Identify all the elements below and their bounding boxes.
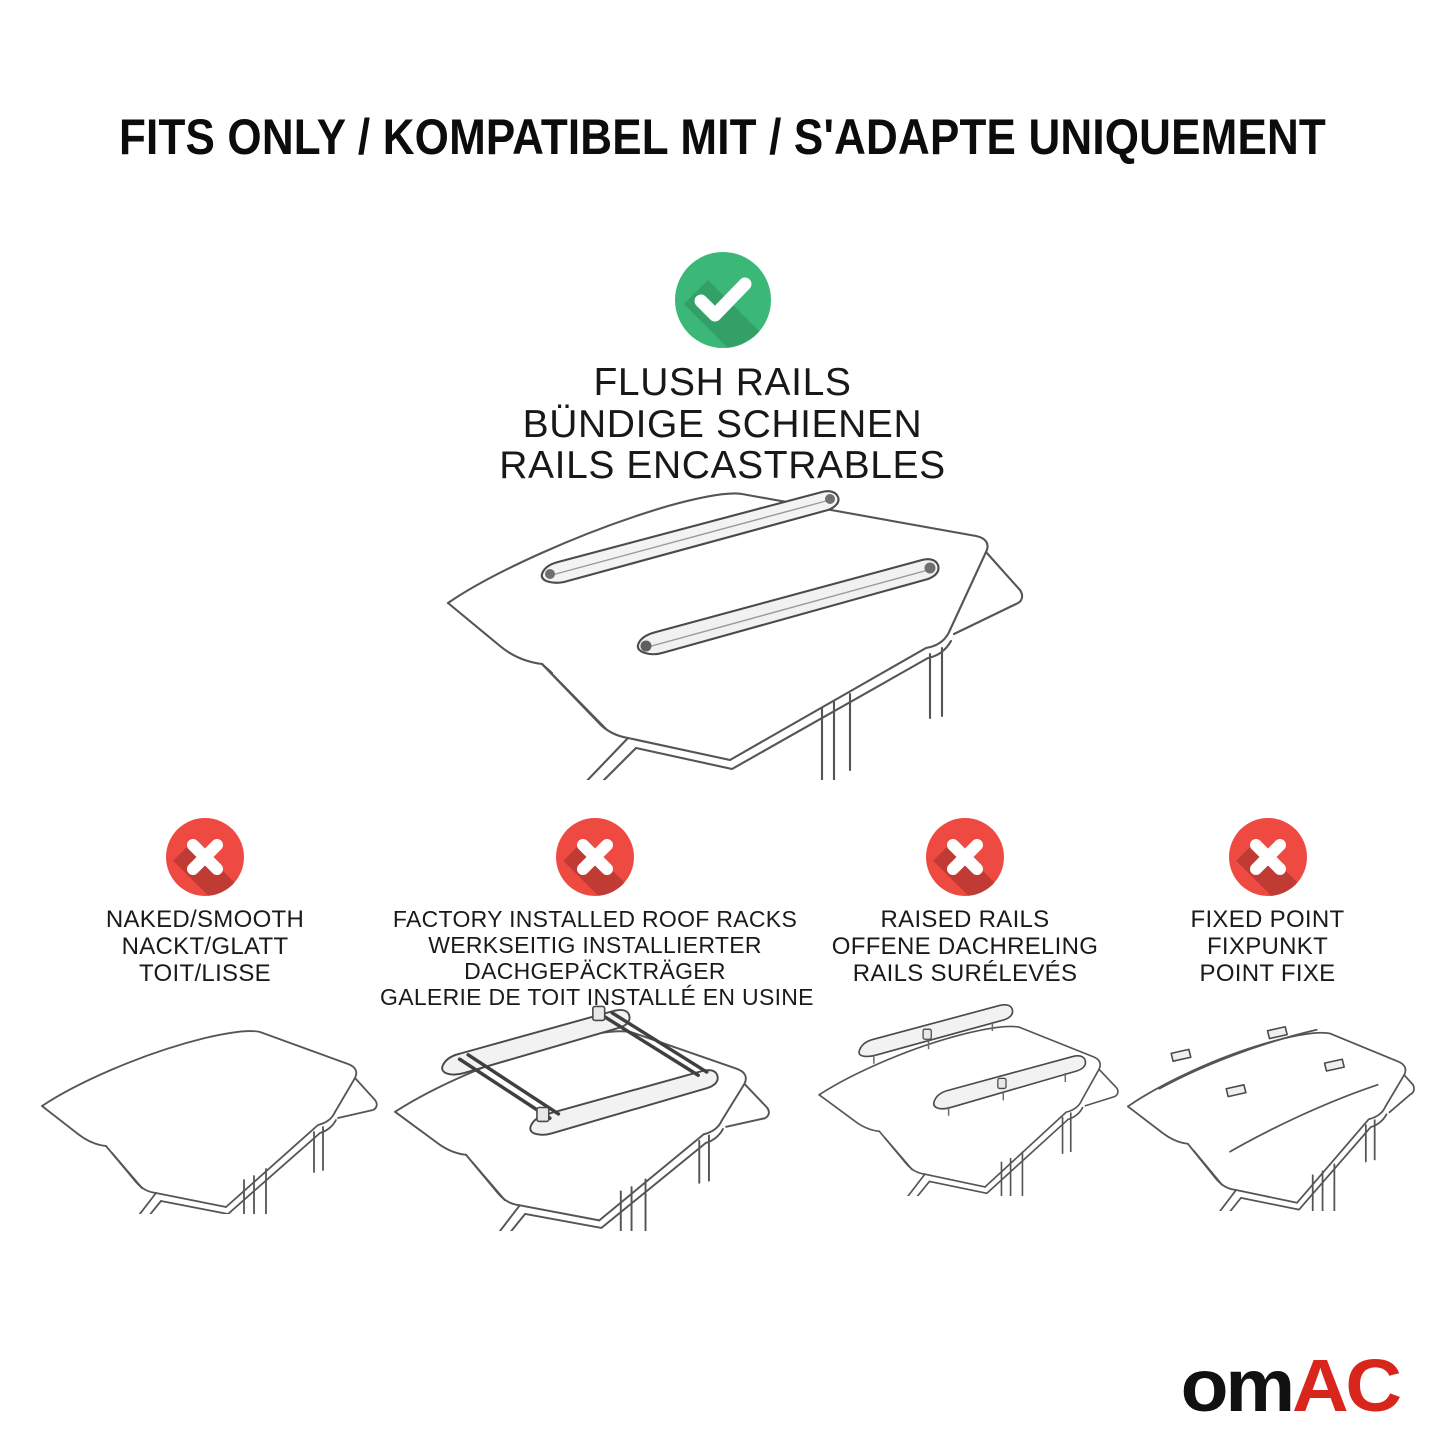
x-circle-icon xyxy=(166,818,244,896)
incompatible-labels: RAISED RAILS OFFENE DACHRELING RAILS SUR… xyxy=(810,906,1120,987)
incompatible-label-de-2: DACHGEPÄCKTRÄGER xyxy=(380,958,810,984)
bare-roof-illustration xyxy=(30,1014,380,1214)
x-circle-icon xyxy=(556,818,634,896)
compatible-label-en: FLUSH RAILS xyxy=(499,362,945,404)
incompatible-label-de: NACKT/GLATT xyxy=(30,933,380,960)
logo-text-red: AC xyxy=(1292,1344,1399,1427)
incompatible-label-en: FACTORY INSTALLED ROOF RACKS xyxy=(380,906,810,932)
x-circle-icon xyxy=(926,818,1004,896)
incompatible-labels: FIXED POINT FIXPUNKT POINT FIXE xyxy=(1120,906,1415,987)
incompatible-labels: FACTORY INSTALLED ROOF RACKS WERKSEITIG … xyxy=(380,906,810,1010)
incompatible-label-en: FIXED POINT xyxy=(1120,906,1415,933)
raised-rails-roof-illustration xyxy=(810,1000,1120,1196)
incompatible-label-en: RAISED RAILS xyxy=(810,906,1120,933)
incompatible-label-fr: TOIT/LISSE xyxy=(30,960,380,987)
incompatible-item-fixed-point: FIXED POINT FIXPUNKT POINT FIXE xyxy=(1120,818,1415,987)
incompatible-label-de-1: WERKSEITIG INSTALLIERTER xyxy=(380,932,810,958)
compatible-labels: FLUSH RAILS BÜNDIGE SCHIENEN RAILS ENCAS… xyxy=(499,362,945,487)
incompatible-label-en: NAKED/SMOOTH xyxy=(30,906,380,933)
factory-crossbar-roof-illustration xyxy=(380,1000,810,1231)
compatible-block: FLUSH RAILS BÜNDIGE SCHIENEN RAILS ENCAS… xyxy=(0,252,1445,487)
incompatible-item-factory-racks: FACTORY INSTALLED ROOF RACKS WERKSEITIG … xyxy=(380,818,810,1010)
logo-text-black: om xyxy=(1181,1344,1292,1427)
incompatible-label-fr: RAILS SURÉLEVÉS xyxy=(810,960,1120,987)
x-circle-icon xyxy=(1229,818,1307,896)
incompatible-columns: NAKED/SMOOTH NACKT/GLATT TOIT/LISSE xyxy=(0,818,1445,1248)
fixed-point-roof-illustration xyxy=(1120,1014,1415,1211)
incompatible-label-fr: POINT FIXE xyxy=(1120,960,1415,987)
incompatible-label-de: OFFENE DACHRELING xyxy=(810,933,1120,960)
flush-rails-roof-illustration xyxy=(430,470,1030,780)
incompatible-item-naked-smooth: NAKED/SMOOTH NACKT/GLATT TOIT/LISSE xyxy=(30,818,380,987)
incompatible-labels: NAKED/SMOOTH NACKT/GLATT TOIT/LISSE xyxy=(30,906,380,987)
omac-logo: omAC xyxy=(1181,1349,1399,1423)
page-title: FITS ONLY / KOMPATIBEL MIT / S'ADAPTE UN… xyxy=(87,108,1359,166)
incompatible-label-de: FIXPUNKT xyxy=(1120,933,1415,960)
check-circle-icon xyxy=(675,252,771,348)
incompatible-item-raised-rails: RAISED RAILS OFFENE DACHRELING RAILS SUR… xyxy=(810,818,1120,987)
compatible-label-de: BÜNDIGE SCHIENEN xyxy=(499,404,945,446)
